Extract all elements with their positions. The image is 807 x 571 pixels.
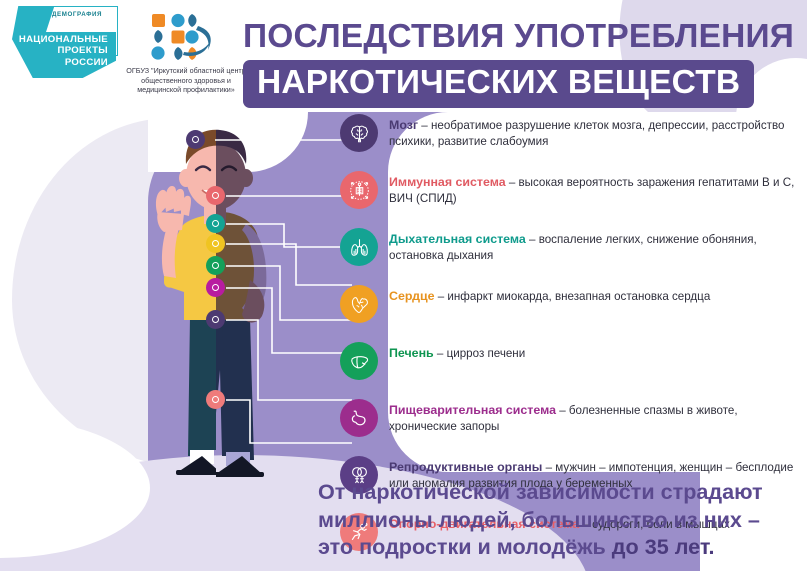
list-item-respiratory-system-text: Дыхательная система – воспаление легких,… (389, 228, 807, 265)
list-item-digestive-system-heading: Пищеварительная система (389, 403, 556, 417)
brain-icon (340, 114, 378, 152)
list-item-heart-heading: Сердце (389, 289, 434, 303)
bottom-banner: От наркотической зависимости страдают ми… (318, 478, 798, 561)
org-logo-icon (138, 8, 230, 64)
dot-heart[interactable] (206, 234, 225, 253)
np-logo-line1: НАЦИОНАЛЬНЫЕ (18, 34, 108, 45)
list-item-brain-heading: Мозг (389, 118, 418, 132)
list-item-immune-system-heading: Иммунная система (389, 175, 506, 189)
list-item-reproductive-organs-dash: – (546, 461, 552, 474)
dot-musculoskeletal[interactable] (206, 390, 225, 409)
list-item-brain-dash: – (421, 119, 427, 132)
stomach-icon (340, 399, 378, 437)
list-item-reproductive-organs-heading: Репродуктивные органы (389, 460, 542, 474)
list-item-heart-dash: – (438, 290, 444, 303)
banner-line-3: это подростки и молодёжь до 35 лет. (318, 533, 798, 561)
list-item-heart: Сердце – инфаркт миокарда, внезапная ост… (340, 285, 807, 323)
infographic-poster: ДЕМОГРАФИЯ НАЦИОНАЛЬНЫЕ ПРОЕКТЫ РОССИИ О… (0, 0, 807, 571)
list-item-liver-text: Печень – цирроз печени (389, 342, 525, 362)
list-item-digestive-system: Пищеварительная система – болезненные сп… (340, 399, 807, 437)
list-item-liver-heading: Печень (389, 346, 434, 360)
list-item-heart-body: инфаркт миокарда, внезапная остановка се… (447, 290, 710, 303)
list-item-liver-body: цирроз печени (447, 347, 526, 360)
list-item-brain: Мозг – необратимое разрушение клеток моз… (340, 114, 807, 152)
title-line-2-bar: НАРКОТИЧЕСКИХ ВЕЩЕСТВ (243, 60, 754, 108)
heart-icon (340, 285, 378, 323)
list-item-brain-text: Мозг – необратимое разрушение клеток моз… (389, 114, 807, 151)
list-item-respiratory-system-heading: Дыхательная система (389, 232, 526, 246)
organization-logo-mark (138, 8, 230, 64)
banner-line-2: миллионы людей, большинство из них – (318, 506, 798, 534)
banner-line-3-highlight: до 35 лет. (612, 534, 715, 559)
dot-immune[interactable] (206, 186, 225, 205)
dot-stomach[interactable] (206, 278, 225, 297)
banner-line-1: От наркотической зависимости страдают (318, 478, 798, 506)
list-item-digestive-system-dash: – (559, 404, 565, 417)
np-logo-line2: ПРОЕКТЫ (18, 45, 108, 56)
list-item-heart-text: Сердце – инфаркт миокарда, внезапная ост… (389, 285, 710, 305)
dot-reproductive[interactable] (206, 310, 225, 329)
list-item-liver-dash: – (437, 347, 443, 360)
list-item-respiratory-system-dash: – (529, 233, 535, 246)
dot-lungs[interactable] (206, 214, 225, 233)
dot-brain[interactable] (186, 130, 205, 149)
liver-icon (340, 342, 378, 380)
list-item-immune-system-text: Иммунная система – высокая вероятность з… (389, 171, 807, 208)
poster-title: ПОСЛЕДСТВИЯ УПОТРЕБЛЕНИЯ НАРКОТИЧЕСКИХ В… (243, 18, 799, 108)
lungs-icon (340, 228, 378, 266)
list-item-brain-body: необратимое разрушение клеток мозга, деп… (389, 119, 784, 148)
np-logo-lines: НАЦИОНАЛЬНЫЕ ПРОЕКТЫ РОССИИ (18, 34, 114, 68)
title-line-2: НАРКОТИЧЕСКИХ ВЕЩЕСТВ (257, 64, 740, 101)
banner-line-3-prefix: это подростки и молодёжь (318, 534, 612, 559)
list-item-liver: Печень – цирроз печени (340, 342, 807, 380)
list-item-respiratory-system: Дыхательная система – воспаление легких,… (340, 228, 807, 266)
list-item-digestive-system-text: Пищеварительная система – болезненные сп… (389, 399, 807, 436)
np-logo-kicker: ДЕМОГРАФИЯ (52, 11, 102, 18)
immune-system-icon (340, 171, 378, 209)
title-line-1: ПОСЛЕДСТВИЯ УПОТРЕБЛЕНИЯ (243, 18, 799, 56)
list-item-immune-system: Иммунная система – высокая вероятность з… (340, 171, 807, 209)
dot-liver[interactable] (206, 256, 225, 275)
np-logo-line3: РОССИИ (18, 57, 108, 68)
list-item-immune-system-dash: – (509, 176, 515, 189)
